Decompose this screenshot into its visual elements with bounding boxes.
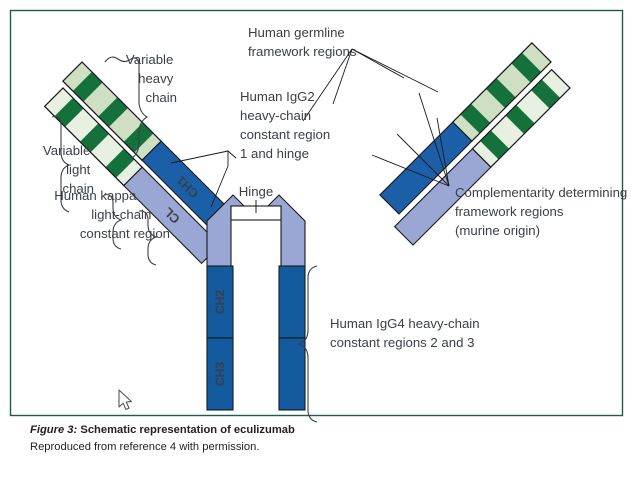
figure-caption-credit: Reproduced from reference 4 with permiss… [30,441,259,453]
fc-stem-left: CH2 CH3 [207,266,233,410]
figure-caption-text: Schematic representation of eculizumab [77,424,295,436]
right-ch2-domain [279,266,305,338]
ch3-domain-label: CH3 [213,362,227,386]
ch2-domain-label: CH2 [213,290,227,314]
fc-stem-right [279,266,305,410]
hinge-label: Hinge [239,184,273,199]
figure-caption-label: Figure 3: [30,424,77,436]
right-ch3-domain [279,338,305,410]
eculizumab-schematic-figure: CL CH1 [0,0,633,485]
figure-caption-title: Figure 3: Schematic representation of ec… [30,424,295,436]
